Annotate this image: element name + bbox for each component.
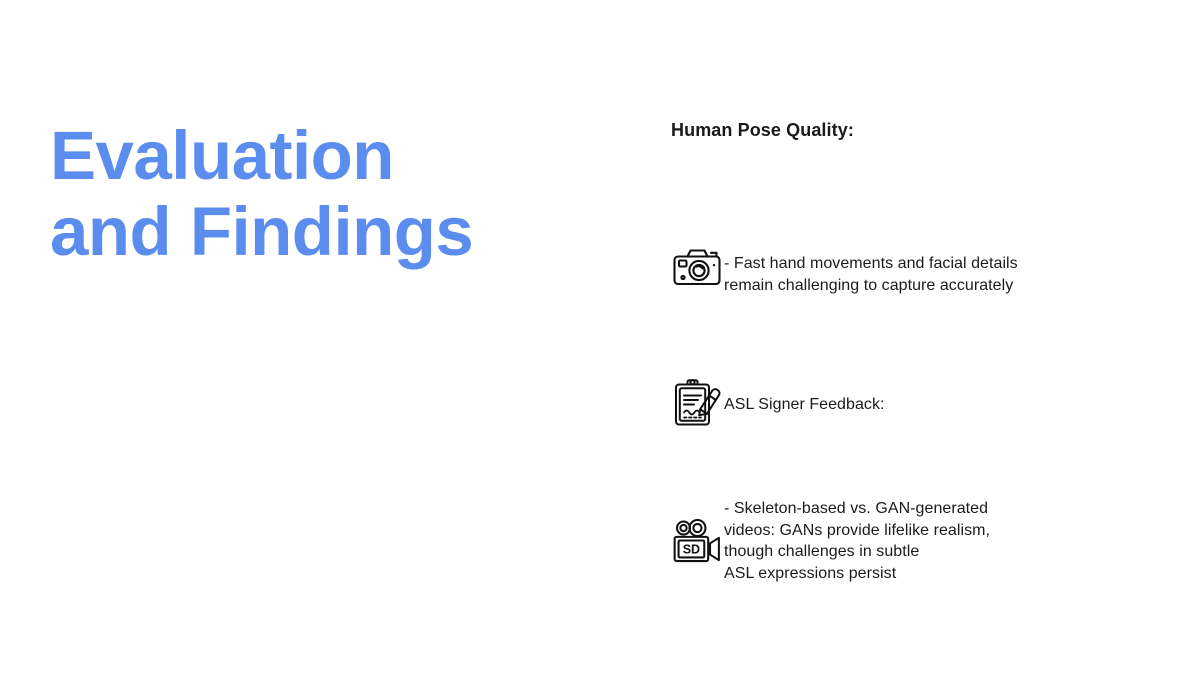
- list-item: SD - Skeleton-based vs. GAN-generated vi…: [670, 498, 1170, 584]
- right-content-block: Human Pose Quality:: [670, 118, 1150, 142]
- list-item-text: - Skeleton-based vs. GAN-generated video…: [724, 498, 990, 584]
- list-item: ASL Signer Feedback:: [670, 376, 1170, 430]
- slide-canvas: Evaluation and Findings Human Pose Quali…: [0, 0, 1200, 675]
- video-camera-sd-icon: SD: [670, 498, 724, 568]
- list-item-text: ASL Signer Feedback:: [724, 376, 885, 416]
- list-item: - Fast hand movements and facial details…: [670, 243, 1170, 296]
- photo-camera-icon: [670, 243, 724, 291]
- video-camera-sd-label: SD: [683, 543, 700, 557]
- list-item-text: - Fast hand movements and facial details…: [724, 243, 1018, 296]
- title-block: Evaluation and Findings: [50, 118, 590, 270]
- section-heading-human-pose-quality: Human Pose Quality:: [671, 118, 1150, 142]
- page-title: Evaluation and Findings: [50, 118, 590, 270]
- clipboard-pen-icon: [670, 376, 724, 430]
